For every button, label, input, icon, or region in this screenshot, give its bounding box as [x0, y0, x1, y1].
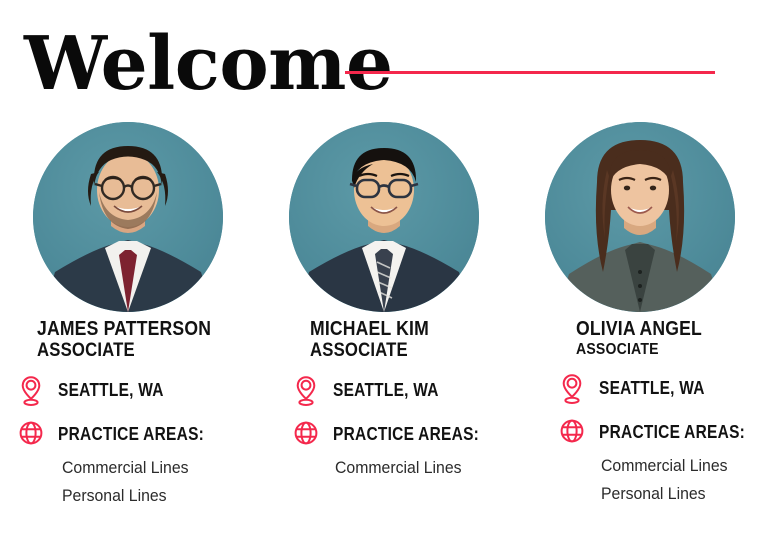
person-info: MICHAEL KIM ASSOCIATE SEATTLE, WA [256, 318, 548, 482]
location-row: SEATTLE, WA [292, 374, 548, 406]
location-text: SEATTLE, WA [58, 380, 164, 400]
location-text: SEATTLE, WA [333, 380, 439, 400]
practice-row: PRACTICE AREAS: [292, 418, 548, 450]
location-row: SEATTLE, WA [558, 372, 768, 404]
list-item: Commercial Lines [335, 454, 533, 482]
page-header: Welcome [0, 0, 768, 118]
person-role: ASSOCIATE [576, 340, 768, 360]
list-item: Commercial Lines [62, 454, 258, 482]
avatar [289, 122, 479, 312]
practice-row: PRACTICE AREAS: [17, 418, 273, 450]
practice-areas-list: Commercial Lines Personal Lines [601, 452, 768, 508]
practice-row: PRACTICE AREAS: [558, 416, 768, 448]
person-name: MICHAEL KIM [310, 318, 519, 340]
portrait-michael-kim [289, 122, 479, 312]
person-name: JAMES PATTERSON [37, 318, 245, 340]
person-card[interactable]: JAMES PATTERSON ASSOCIATE SEATTLE, WA [0, 118, 256, 548]
list-item: Commercial Lines [601, 452, 768, 480]
globe-icon [17, 418, 47, 450]
list-item: Personal Lines [62, 482, 258, 510]
avatar [33, 122, 223, 312]
list-item: Personal Lines [601, 480, 768, 508]
location-row: SEATTLE, WA [17, 374, 273, 406]
title-accent-rule [345, 71, 715, 74]
person-info: OLIVIA ANGEL ASSOCIATE SEATTLE, WA [512, 318, 768, 508]
practice-areas-label: PRACTICE AREAS: [58, 424, 204, 444]
location-pin-icon [17, 374, 47, 406]
person-role: ASSOCIATE [37, 340, 245, 362]
person-name: OLIVIA ANGEL [576, 318, 768, 340]
location-pin-icon [292, 374, 322, 406]
person-card[interactable]: MICHAEL KIM ASSOCIATE SEATTLE, WA [256, 118, 512, 548]
people-grid: JAMES PATTERSON ASSOCIATE SEATTLE, WA [0, 118, 768, 548]
globe-icon [558, 416, 588, 448]
person-role: ASSOCIATE [310, 340, 519, 362]
person-card[interactable]: OLIVIA ANGEL ASSOCIATE SEATTLE, WA [512, 118, 768, 548]
page-title: Welcome [24, 22, 393, 106]
practice-areas-list: Commercial Lines Personal Lines [62, 454, 273, 510]
location-pin-icon [558, 372, 588, 404]
portrait-olivia-angel [545, 122, 735, 312]
person-info: JAMES PATTERSON ASSOCIATE SEATTLE, WA [0, 318, 273, 510]
globe-icon [292, 418, 322, 450]
avatar [545, 122, 735, 312]
practice-areas-label: PRACTICE AREAS: [333, 424, 479, 444]
location-text: SEATTLE, WA [599, 378, 705, 398]
portrait-james-patterson [33, 122, 223, 312]
practice-areas-label: PRACTICE AREAS: [599, 422, 745, 442]
